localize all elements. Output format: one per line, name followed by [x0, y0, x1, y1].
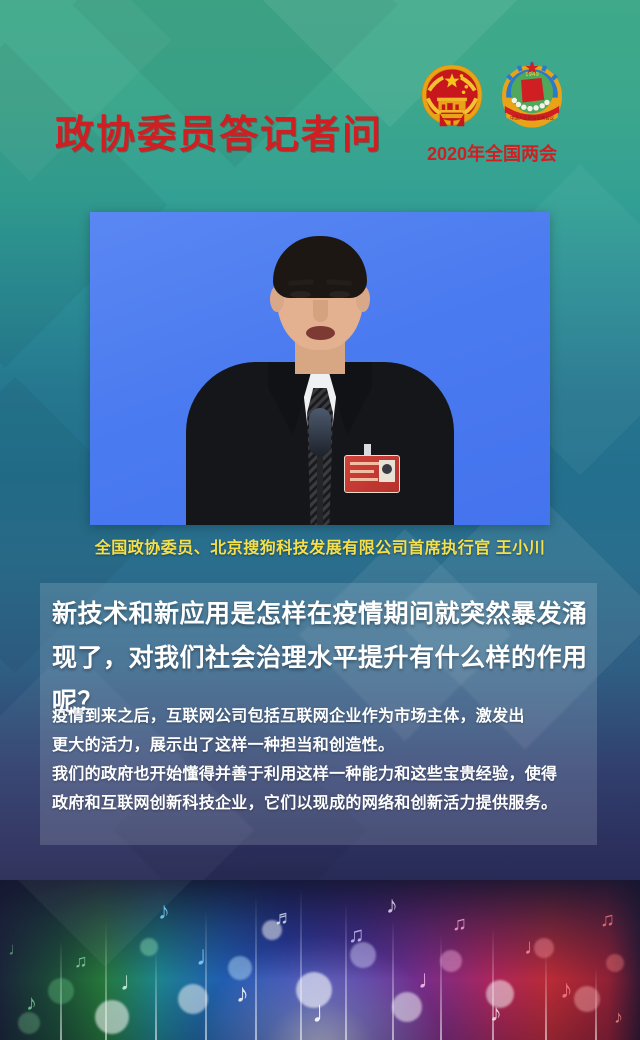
- music-note-icon: ♪: [614, 1008, 623, 1026]
- bokeh-dot: [95, 1000, 129, 1034]
- bokeh-dot: [606, 954, 624, 972]
- music-note-icon: ♪: [386, 894, 398, 918]
- music-note-icon: ♪: [560, 976, 573, 1002]
- music-note-icon: ♪: [158, 900, 170, 924]
- page-title: 政协委员答记者问: [55, 116, 383, 155]
- emblem-group: 1949 中国人民政治协商会议: [416, 58, 568, 138]
- delegate-badge: [344, 455, 400, 493]
- cppcc-emblem-icon: 1949 中国人民政治协商会议: [498, 58, 566, 136]
- music-note-icon: ♫: [452, 914, 467, 934]
- music-note-icon: ♬: [274, 908, 294, 928]
- bokeh-dot: [178, 984, 208, 1014]
- music-note-icon: ♪: [236, 980, 249, 1006]
- photo-eye-right: [329, 291, 350, 298]
- light-beam: [345, 902, 347, 1040]
- music-note-icon: ♩: [418, 966, 444, 992]
- music-footer-decor: ♪ ♫ ♩ ♪ ♩ ♪ ♬ ♩ ♫ ♪ ♩ ♫ ♪ ♩ ♪ ♫ ♩ ♪: [0, 880, 640, 1040]
- light-beam: [155, 950, 157, 1040]
- light-beam: [255, 895, 257, 1040]
- bokeh-dot: [574, 986, 600, 1012]
- answer-line: 政府和互联网创新科技企业，它们以现成的网络和创新活力提供服务。: [52, 789, 597, 818]
- music-note-icon: ♩: [312, 998, 342, 1028]
- photo-eye-left: [290, 291, 311, 298]
- poster-root: 政协委员答记者问: [0, 0, 640, 1040]
- bokeh-dot: [18, 1012, 40, 1034]
- music-note-icon: ♫: [74, 952, 88, 970]
- bokeh-dot: [140, 938, 158, 956]
- answer-text: 疫情到来之后，互联网公司包括互联网企业作为市场主体，激发出 更大的活力，展示出了…: [52, 702, 597, 818]
- badge-portrait: [379, 460, 395, 482]
- music-note-icon: ♫: [600, 910, 615, 930]
- photo-mouth: [306, 326, 335, 340]
- music-note-icon: ♩: [8, 940, 26, 958]
- speaker-photo: [90, 212, 550, 525]
- poster-header: 政协委员答记者问: [0, 0, 640, 200]
- light-beam: [300, 888, 302, 1040]
- bokeh-dot: [392, 992, 422, 1022]
- svg-text:1949: 1949: [525, 72, 539, 78]
- music-note-icon: ♩: [196, 942, 224, 970]
- music-note-icon: ♪: [26, 992, 37, 1014]
- light-beam: [205, 910, 207, 1040]
- music-note-icon: ♫: [348, 924, 365, 946]
- music-note-icon: ♩: [524, 936, 546, 958]
- answer-line: 更大的活力，展示出了这样一种担当和创造性。: [52, 731, 597, 760]
- music-note-icon: ♩: [120, 968, 146, 994]
- bokeh-dot: [48, 978, 74, 1004]
- event-year-label: 2020年全国两会: [416, 140, 568, 166]
- national-emblem-icon: [418, 58, 486, 136]
- light-beam: [545, 952, 547, 1040]
- answer-line: 疫情到来之后，互联网公司包括互联网企业作为市场主体，激发出: [52, 702, 597, 731]
- microphone-icon: [309, 408, 331, 456]
- photo-nose: [313, 300, 328, 322]
- photo-caption: 全国政协委员、北京搜狗科技发展有限公司首席执行官 王小川: [0, 534, 640, 558]
- answer-line: 我们的政府也开始懂得并善于利用这样一种能力和这些宝贵经验，使得: [52, 760, 597, 789]
- music-note-icon: ♪: [490, 1002, 502, 1026]
- light-beam: [392, 920, 394, 1040]
- bokeh-dot: [228, 956, 252, 980]
